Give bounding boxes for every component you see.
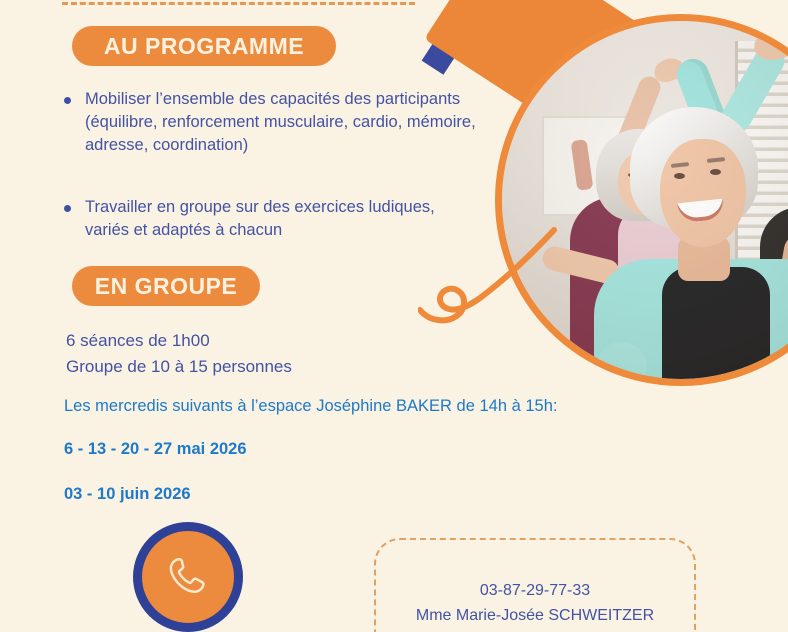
bullet-dot-icon [64,97,71,104]
groupe-sessions-info: 6 séances de 1h00 Groupe de 10 à 15 pers… [66,328,292,380]
schedule-dates-june: 03 - 10 juin 2026 [64,485,191,504]
section-pill-au-programme: AU PROGRAMME [72,26,336,66]
photo-person-front-face [660,139,746,247]
schedule-intro-line: Les mercredis suivants à l’espace Joséph… [64,397,557,416]
phone-handset-icon [165,554,211,600]
photo-person-front-tanktop [662,267,770,379]
programme-bullet-1: Mobiliser l’ensemble des capacités des p… [64,88,494,157]
section-pill-en-groupe: EN GROUPE [72,266,260,306]
orange-curl-swirl-icon [418,224,558,344]
programme-bullet-1-text: Mobiliser l’ensemble des capacités des p… [85,88,476,157]
schedule-dates-may: 6 - 13 - 20 - 27 mai 2026 [64,440,247,459]
contact-phone-number[interactable]: 03-87-29-77-33 [374,578,696,603]
programme-bullet-2: Travailler en groupe sur des exercices l… [64,196,484,242]
poster-canvas: AU PROGRAMME Mobiliser l’ensemble des ca… [0,0,788,632]
contact-details: 03-87-29-77-33 Mme Marie-Josée SCHWEITZE… [374,578,696,628]
programme-bullet-2-text: Travailler en groupe sur des exercices l… [85,196,435,242]
contact-person-name: Mme Marie-Josée SCHWEITZER [374,603,696,628]
photo-person-front-eye-right [710,169,721,175]
phone-badge [133,522,243,632]
photo-person-front-eye-left [674,173,685,179]
bullet-dot-icon [64,205,71,212]
top-dashed-rule [62,2,415,5]
